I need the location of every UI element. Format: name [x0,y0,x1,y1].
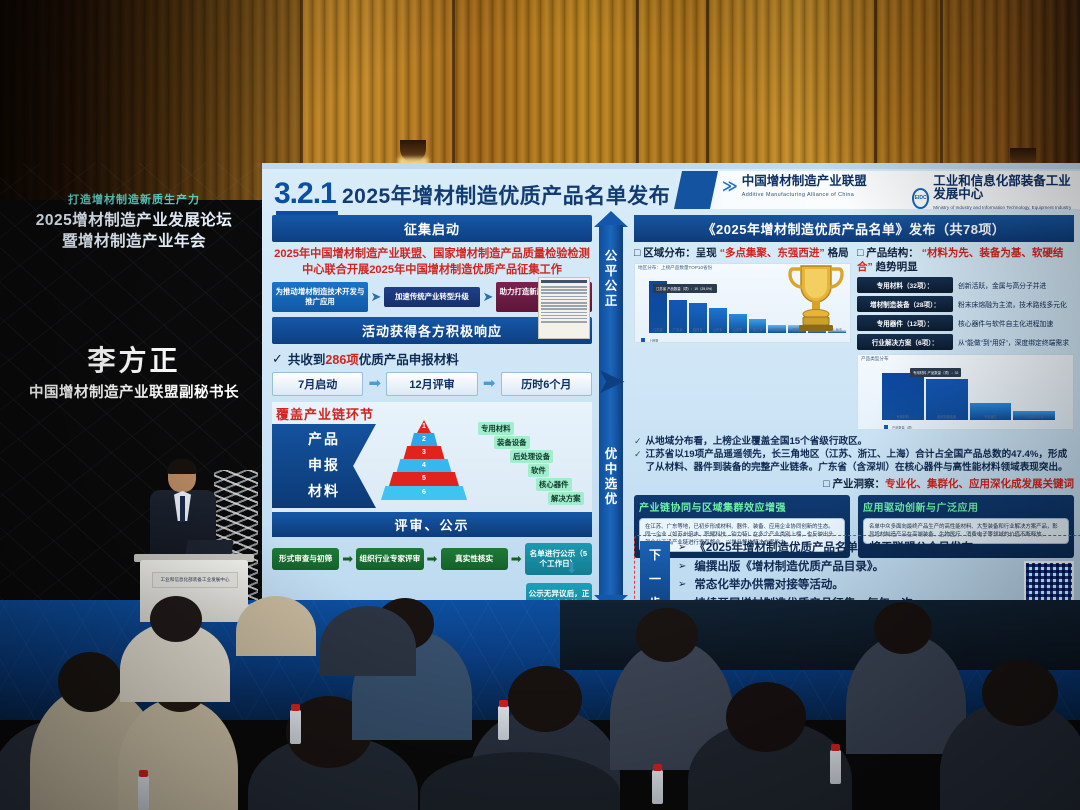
structure-row-4: 行业解决方案（6项）： 从“能做”到“用好”，深度绑定终端需求 [857,334,1074,350]
structure-bar-chart: 产品类型分布 专用材料增材制造装备专用器件行业解决方案 专用材料 产品数量（项）… [857,354,1074,430]
timeline-step-2: 12月评审 [386,372,477,396]
structure-chart-tooltip: 专用材料 产品数量（项）：32 [910,368,961,377]
insight-card-1-title: 产业链协同与区域集群效应增强 [639,499,845,514]
structure-value-2: 粉末床熔融为主流，技术路线多元化 [958,299,1074,309]
publish-bar: 《2025年增材制造优质产品名单》发布（共78项） [634,215,1074,242]
submission-number: 286项 [325,353,358,367]
audience-head [508,666,582,732]
structure-heading-prefix: □ 产品结构： [857,247,919,259]
timeline-steps: 7月启动 ➡ 12月评审 ➡ 历时6个月 [272,372,592,396]
presentation-slide: 3.2.1 2025年增材制造优质产品名单发布 ≫ 中国增材制造产业联盟 Add… [262,163,1080,625]
water-bottle [138,776,149,810]
chevron-right-icon-1: ➤ [370,291,382,303]
fairness-arrow: 公平公正 ➤ 优中选优 [594,211,628,611]
flow-step-2: 组织行业专家评审 [356,548,423,570]
document-thumbnail-icon [538,277,590,339]
structure-chart-caption: 产品类型分布 [861,356,889,362]
eidc-logo-icon: EIDC [912,188,929,209]
pyramid-level-6: 6 [381,486,467,500]
industry-insight: □ 产业洞察：专业化、集群化、应用深化成发展关键词 [634,476,1074,491]
arrow-text-top: 公平公正 [601,249,621,309]
chart-x-tick: 河南省 [768,327,786,332]
chart-x-tick: 专用器件 [970,414,1012,419]
pyramid-label-3: 后处理设备 [510,450,553,463]
water-bottle [290,710,301,744]
podium-plate: 工业和信息化部装备工业发展中心 [152,572,238,588]
water-bottle [830,750,841,784]
water-bottle [652,770,663,804]
chart-bar: 专用器件 [970,403,1012,420]
conference-photo: 打造增材制造新质生产力 2025增材制造产业发展论坛 暨增材制造产业年会 李方正… [0,0,1080,810]
arrow-right-icon-2: ➡ [481,377,498,391]
arrow-right-icon-5: ➡ [510,553,523,565]
insight-card-2-title: 应用驱动创新与广泛应用 [863,499,1069,514]
structure-row-3: 专用器件（12项）： 核心器件与软件自主化进程加速 [857,315,1074,331]
region-chart-tooltip: 江苏省 产品数量（项）：19（25.0%） [653,284,717,293]
review-flow: 形式审查与初筛 ➡ 组织行业专家评审 ➡ 真实性核实 ➡ 名单进行公示（5个工作… [272,543,592,575]
purpose-box-1: 为推动增材制造技术开发与推广应用 [272,282,368,312]
structure-row-1: 专用材料（32项）： 创新活跃，金属与高分子并进 [857,277,1074,293]
water-bottle [498,706,509,740]
arrow-bullet-icon-1: ➢ [678,539,686,558]
chart-x-tick: 陕西省 [689,327,707,332]
launch-header: 征集启动 [272,215,592,242]
arrow-right-icon-1: ➡ [366,377,383,391]
structure-key-4: 行业解决方案（6项）： [857,334,953,350]
chart-bar: 陕西省 [689,303,707,333]
alliance-logo: ≫ 中国增材制造产业联盟 Additive Manufacturing Alli… [722,175,867,198]
slide-left-column: 征集启动 2025年中国增材制造产业联盟、国家增材制造产品质量检验检测中心联合开… [272,215,592,575]
chart-x-tick: 北京市 [729,327,747,332]
forum-tagline: 打造增材制造新质生产力 [0,191,268,207]
chart-bar: 增材制造装备 [926,379,968,420]
flow-step-3: 真实性核实 [441,548,508,570]
pyramid-label-5: 核心器件 [536,478,572,491]
purpose-box-2: 加速传统产业转型升级 [384,287,480,307]
check-icon-bullet-1: ✓ [634,435,642,448]
pyramid-label-1: 专用材料 [478,422,514,435]
region-bullet-1-text: 从地域分布看，上榜企业覆盖全国15个省级行政区。 [646,435,868,448]
speaker-name: 李方正 [0,339,268,379]
speaker-tie [180,496,185,522]
submission-prefix: 共收到 [288,353,326,367]
structure-value-4: 从“能做”到“用好”，深度绑定终端需求 [958,337,1074,347]
chart-bar: 专用材料 [882,373,924,420]
chart-x-tick: 行业解决方案 [1013,414,1055,419]
pyramid-shape: 1 2 3 4 5 6 [378,420,470,508]
audience-head [726,682,806,752]
chart-x-tick: 江苏省 [649,327,667,332]
chart-bar: 河南省 [768,325,786,333]
pyramid-level-2: 2 [411,433,438,446]
eidc-logo-name: 工业和信息化部装备工业发展中心 [933,175,1080,201]
next-step-item-3: ➢常态化举办供需对接等活动。 [678,576,1080,595]
next-step-text-1: 《2025年增材制造优质产品名单》将于联盟公众号发布。 [694,539,984,558]
structure-value-3: 核心器件与软件自主化进程加速 [958,318,1074,328]
timeline-step-1: 7月启动 [272,372,363,396]
speaker-hair [167,459,197,474]
alliance-logo-icon: ≫ [722,179,738,194]
speaker-role: 中国增材制造产业联盟副秘书长 [0,381,268,402]
audience-head [874,602,932,654]
review-publicity-bar: 评审、公示 [272,512,592,537]
forum-title: 2025增材制造产业发展论坛 暨增材制造产业年会 [0,210,268,252]
slide-title: 2025年增材制造优质产品名单发布 [342,180,670,210]
region-chart-caption: 地区分布：上榜产品数量TOP10省份 [638,265,712,271]
audience-head [982,660,1058,726]
chart-bar: 北京市 [729,314,747,333]
launch-paragraph: 2025年中国增材制造产业联盟、国家增材制造产品质量检验检测中心联合开展2025… [274,247,590,278]
audience-head [636,608,698,662]
structure-key-2: 增材制造装备（28项）： [857,296,953,312]
next-step-text-3: 常态化举办供需对接等活动。 [694,576,844,595]
audience-head [150,596,202,642]
region-bullet-2-text: 江苏省以19项产品遥遥领先，长三角地区（江苏、浙江、上海）合计占全国产品总数的4… [646,448,1074,474]
trophy-icon [785,260,847,334]
region-heading-prefix: □ 区域分布：呈现 [634,247,717,259]
pyramid-label-6: 解决方案 [548,492,584,505]
chart-bar: 山东省 [709,308,727,333]
structure-key-1: 专用材料（32项）： [857,277,953,293]
next-step-text-2: 编撰出版《增材制造优质产品目录》。 [694,558,884,577]
pyramid-level-3: 3 [404,446,445,459]
arrow-right-icon-4: ➡ [426,553,439,565]
alliance-logo-sub: Additive Manufacturing Alliance of China [742,192,855,198]
chevron-right-icon-2: ➤ [482,291,494,303]
insight-prefix: □ 产业洞察： [823,478,885,490]
next-step-item-2: ➢编撰出版《增材制造优质产品目录》。 [678,558,1080,577]
arrow-down-icon: ⬇ [565,559,578,577]
structure-row-2: 增材制造装备（28项）： 粉末床熔融为主流，技术路线多元化 [857,296,1074,312]
arrow-text-bottom: 优中选优 [601,447,621,507]
structure-heading-suffix: 趋势明显 [876,261,918,273]
structure-heading: □ 产品结构： “材料为先、装备为基、软硬结合” 趋势明显 [857,246,1074,274]
region-bullets: ✓ 从地域分布看，上榜企业覆盖全国15个省级行政区。 ✓ 江苏省以19项产品遥遥… [634,435,1074,474]
structure-key-3: 专用器件（12项）： [857,315,953,331]
structure-legend-label: 产品数量（项） [892,425,914,430]
region-heading-quote: “多点集聚、东强西进” [720,247,825,259]
submission-suffix: 优质产品申报材料 [359,353,459,367]
chart-x-tick: 专用材料 [882,414,924,419]
pyramid-side-label: 产品申报材料 [272,424,376,508]
check-icon: ✓ [272,351,283,367]
pyramid-level-5: 5 [389,472,459,486]
structure-chart-legend: 产品数量（项） [884,425,1071,430]
flow-step-1: 形式审查与初筛 [272,548,339,570]
pyramid-level-1: 1 [417,420,431,433]
forum-title-line2: 暨增材制造产业年会 [0,231,268,252]
region-bullet-2: ✓ 江苏省以19项产品遥遥领先，长三角地区（江苏、浙江、上海）合计占全国产品总数… [634,448,1074,474]
region-chart-legend: 上榜数 [641,338,848,343]
section-number: 3.2.1 [274,177,336,211]
next-step-item-1: ➢《2025年增材制造优质产品名单》将于联盟公众号发布。 [678,539,1080,558]
slide-right-column: 《2025年增材制造优质产品名单》发布（共78项） □ 区域分布：呈现 “多点集… [634,215,1074,558]
forum-title-line1: 2025增材制造产业发展论坛 [0,210,268,231]
chart-x-tick: 广东省 [669,327,687,332]
arrow-bullet-icon-2: ➢ [678,558,686,577]
structure-chart-bars: 专用材料增材制造装备专用器件行业解决方案 [882,369,1055,420]
chart-bar: 广东省 [669,300,687,333]
value-chain-pyramid: 覆盖产业链环节 产品申报材料 1 2 3 4 5 6 专用材料 装备设备 后处理… [272,402,592,512]
chart-x-tick: 浙江省 [749,327,767,332]
region-distribution-block: □ 区域分布：呈现 “多点集聚、东强西进” 格局 地区分布：上榜产品数量TOP1… [634,246,851,430]
audience-head [58,652,122,712]
region-bullet-1: ✓ 从地域分布看，上榜企业覆盖全国15个省级行政区。 [634,435,1074,448]
region-heading: □ 区域分布：呈现 “多点集聚、东强西进” 格局 [634,246,851,260]
arrow-right-icon-center: ➤ [596,361,636,401]
region-legend-label: 上榜数 [649,338,659,343]
chart-x-tick: 山东省 [709,327,727,332]
pyramid-title: 覆盖产业链环节 [276,404,374,423]
check-icon-bullet-2: ✓ [634,448,642,474]
slide-top-strip [262,163,1080,169]
pyramid-level-4: 4 [397,459,452,472]
pyramid-label-4: 软件 [528,464,549,477]
audience-person [236,596,316,656]
structure-value-1: 创新活跃，金属与高分子并进 [958,280,1074,290]
region-heading-suffix: 格局 [828,247,849,259]
pyramid-label-2: 装备设备 [494,436,530,449]
flow-step-4: 名单进行公示（5个工作日） [525,543,592,575]
timeline-step-3: 历时6个月 [501,372,592,396]
product-structure-block: □ 产品结构： “材料为先、装备为基、软硬结合” 趋势明显 专用材料（32项）：… [857,246,1074,430]
chart-bar: 行业解决方案 [1013,411,1055,420]
chart-x-tick: 增材制造装备 [926,414,968,419]
arrow-right-icon-3: ➡ [341,553,354,565]
submission-count-line: ✓ 共收到286项优质产品申报材料 [272,349,592,368]
insight-value: 专业化、集群化、应用深化成发展关键词 [885,478,1074,490]
arrow-bullet-icon-3: ➢ [678,576,686,595]
alliance-logo-name: 中国增材制造产业联盟 [742,175,867,188]
audience [0,600,1080,810]
chart-bar: 浙江省 [749,319,767,333]
